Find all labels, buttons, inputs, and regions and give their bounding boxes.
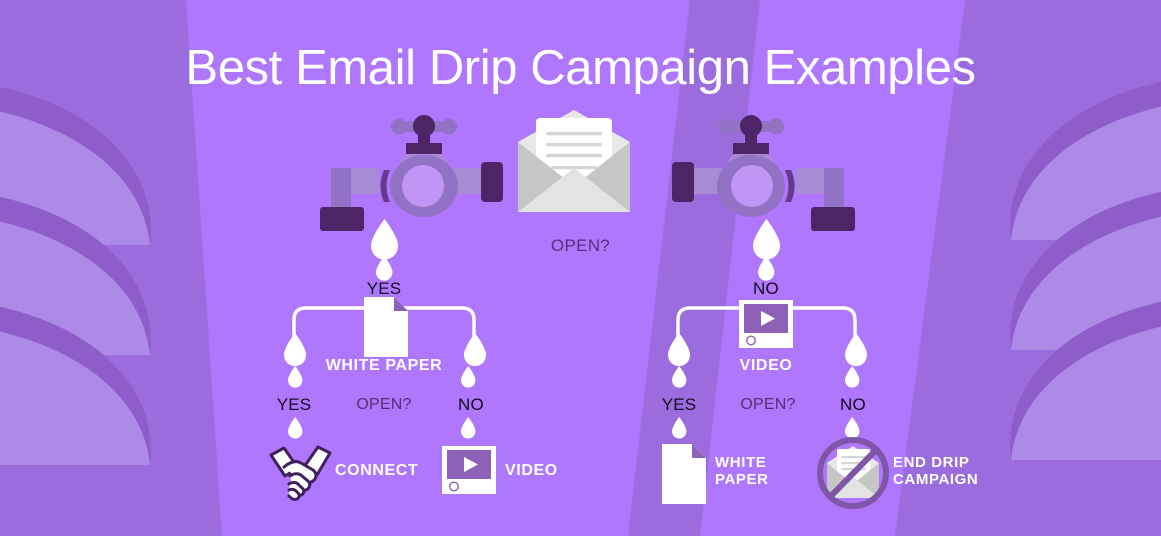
infographic-canvas: Best Email Drip Campaign Examples [0, 0, 1161, 536]
water-drop-icon [672, 417, 686, 439]
no-email-icon [820, 440, 886, 506]
email-open-question: OPEN? [0, 236, 1161, 256]
leaf-label-end-drip-line1: END DRIP [893, 454, 978, 471]
branch-answer-left: YES [360, 279, 408, 299]
water-drop-icon [845, 417, 859, 439]
handshake-icon [271, 447, 330, 499]
node-label-white-paper: WHITE PAPER [284, 357, 484, 375]
leaf-answer-right-yes: YES [655, 395, 703, 415]
leaf-label-white-paper-line2: PAPER [715, 471, 769, 488]
leaf-answer-right-no: NO [829, 395, 877, 415]
open-envelope-icon [518, 110, 630, 212]
leaf-answer-left-no: NO [447, 395, 495, 415]
leaf-label-video: VIDEO [505, 462, 558, 480]
water-drop-icon [376, 256, 392, 281]
water-drop-icon [668, 333, 690, 366]
document-icon-white-paper-left [364, 297, 408, 357]
node-label-video: VIDEO [696, 357, 836, 375]
drop-group-right-yes [668, 333, 690, 439]
faucet-icon-right [672, 115, 855, 231]
leaf-answer-left-yes: YES [270, 395, 318, 415]
branch-answer-right: NO [742, 279, 790, 299]
drop-group-left-no [461, 333, 486, 439]
water-drop-icon [461, 417, 475, 439]
question-right-open: OPEN? [718, 396, 818, 414]
water-drop-icon [288, 417, 302, 439]
diagram-layer [0, 0, 1161, 536]
leaf-label-connect: CONNECT [335, 462, 418, 480]
video-player-icon-right-node [739, 300, 793, 348]
water-drop-icon [845, 333, 867, 366]
document-icon-white-paper-right [662, 444, 706, 504]
drop-group-right-no [845, 333, 867, 439]
leaf-label-end-drip-line2: CAMPAIGN [893, 471, 978, 488]
leaf-label-white-paper-line1: WHITE [715, 454, 769, 471]
leaf-label-white-paper: WHITE PAPER [715, 454, 769, 488]
leaf-label-end-drip-campaign: END DRIP CAMPAIGN [893, 454, 978, 488]
drop-group-left-yes [284, 333, 306, 439]
water-drop-icon [758, 256, 774, 281]
water-drop-icon [672, 366, 686, 388]
faucet-icon-left [320, 115, 503, 231]
water-drop-icon [845, 366, 859, 388]
video-player-icon-leaf [442, 446, 496, 494]
question-left-open: OPEN? [334, 396, 434, 414]
